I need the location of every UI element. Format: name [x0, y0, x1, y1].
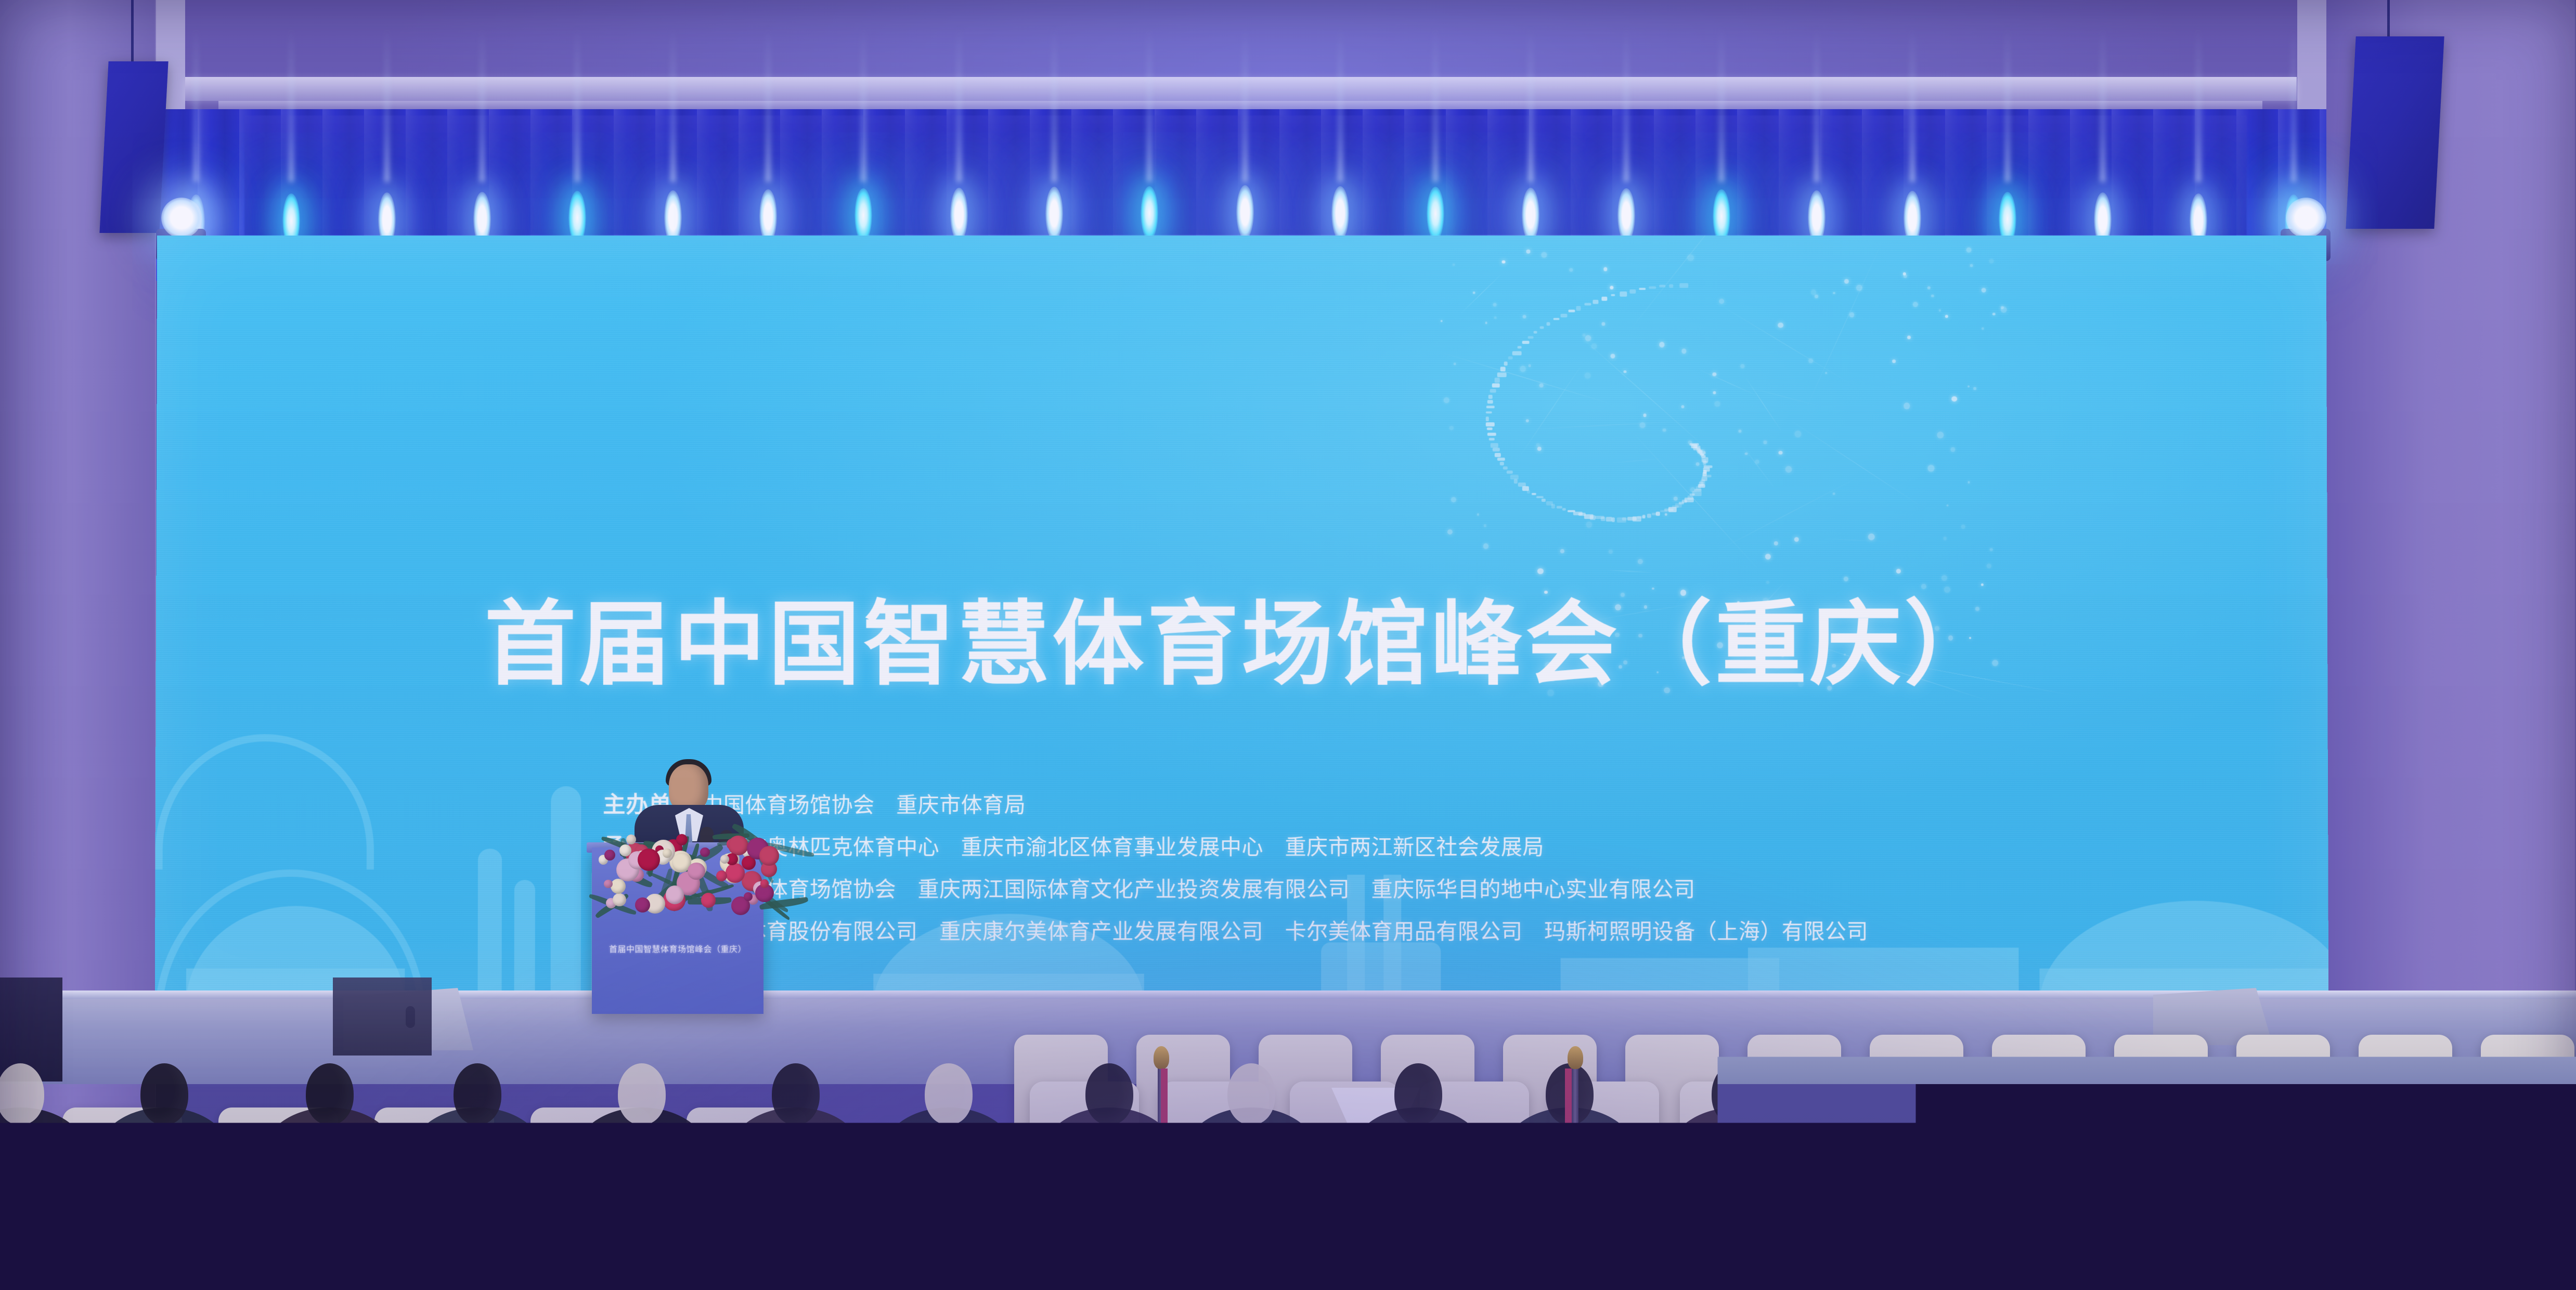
- stage-spotlight: [1045, 187, 1063, 241]
- audience-person-head: [2017, 1063, 2065, 1125]
- tech-particle-dot: [1586, 522, 1592, 527]
- tech-ribbon-pixel: [1576, 306, 1581, 311]
- audience-person-head: [1909, 1196, 1987, 1290]
- tech-particle-dot: [1825, 372, 1828, 374]
- tech-particle-dot: [1892, 359, 1896, 363]
- audience-person-head: [944, 1123, 1005, 1200]
- tech-particle-dot: [1992, 312, 1996, 316]
- tech-ribbon-pixel: [1554, 318, 1560, 320]
- tech-particle-dot: [1765, 554, 1771, 559]
- light-beam: [2291, 26, 2296, 182]
- tech-particle-dot: [1665, 513, 1667, 516]
- tech-particle-dot: [1623, 370, 1626, 373]
- tech-ribbon-pixel: [1510, 475, 1519, 479]
- tech-ribbon-pixel: [1629, 290, 1636, 294]
- tech-particle-dot: [1485, 322, 1487, 324]
- tech-particle-dot: [1528, 364, 1531, 367]
- tech-ribbon-pixel: [1504, 361, 1507, 366]
- tech-ribbon-pixel: [1679, 283, 1688, 288]
- light-beam: [2196, 26, 2201, 182]
- tech-particle-dot: [1449, 426, 1454, 430]
- light-beam: [766, 26, 771, 182]
- light-beam: [1624, 26, 1629, 182]
- tech-ribbon-pixel: [1492, 383, 1500, 387]
- audience-person-head: [0, 1063, 44, 1125]
- tech-particle-dot: [1526, 250, 1530, 254]
- tech-ribbon-pixel: [1486, 416, 1489, 421]
- audience-person-head: [746, 1123, 808, 1200]
- stage-spotlight: [1331, 186, 1349, 240]
- tech-ribbon-pixel: [1639, 288, 1646, 290]
- tech-ribbon-pixel: [1491, 443, 1498, 448]
- tech-particle-dot: [1493, 303, 1497, 307]
- light-beam: [1528, 26, 1533, 182]
- tech-ribbon-pixel: [1669, 284, 1673, 288]
- tech-particle-dot: [1537, 568, 1544, 575]
- tech-ribbon-pixel: [1487, 433, 1496, 436]
- led-screen: 首届中国智慧体育场馆峰会（重庆） 主办单位中国体育场馆协会 重庆市体育局承办单位…: [155, 236, 2328, 1005]
- tech-ribbon-pixel: [1503, 466, 1508, 470]
- tech-particle-dot: [1833, 292, 1835, 294]
- tech-ribbon-pixel: [1495, 453, 1501, 458]
- tech-ribbon-pixel: [1561, 314, 1568, 317]
- tech-connector-line: [1803, 237, 1885, 414]
- tech-connector-line: [1785, 416, 1928, 511]
- light-beam: [1433, 26, 1438, 182]
- tech-connector-line: [1572, 329, 1716, 457]
- audience-person-head: [2296, 1123, 2357, 1200]
- tech-particle-dot: [1539, 383, 1544, 387]
- light-beam: [480, 26, 485, 182]
- audience-person-head: [2482, 1063, 2530, 1125]
- organizer-value: 舒华体育股份有限公司 重庆康尔美体育产业发展有限公司 卡尔美体育用品有限公司 玛…: [702, 919, 1868, 944]
- light-beam: [1814, 26, 1819, 182]
- tech-particle-dot: [1447, 529, 1453, 535]
- hanging-speaker-right: [2346, 36, 2444, 229]
- organizer-line-1: 承办单位重庆市奥林匹克体育中心 重庆市渝北区体育事业发展中心 重庆市两江新区社会…: [603, 836, 2268, 858]
- light-beam: [861, 26, 866, 182]
- tech-particle-dot: [1794, 431, 1801, 437]
- light-beam: [193, 26, 199, 182]
- stanchion-post-right: [1572, 1066, 1578, 1284]
- tech-ribbon-pixel: [1486, 411, 1492, 414]
- light-beam: [1338, 26, 1343, 182]
- audience-person-head: [160, 1123, 222, 1200]
- audience-person-head: [454, 1063, 501, 1125]
- tech-particle-dot: [1937, 432, 1944, 438]
- tech-ribbon-pixel: [1489, 438, 1495, 440]
- tech-particle-dot: [1961, 525, 1965, 528]
- audience-person-head: [306, 1063, 354, 1125]
- tech-ribbon-pixel: [1522, 486, 1529, 491]
- tech-ribbon-pixel: [1487, 400, 1493, 404]
- tech-particle-dot: [1980, 583, 1983, 586]
- flower-bloom: [744, 892, 753, 901]
- tech-particle-dot: [1896, 569, 1901, 574]
- summit-title: 首届中国智慧体育场馆峰会（重庆）: [156, 599, 2328, 690]
- tech-ribbon-pixel: [1532, 493, 1536, 495]
- light-beam: [1242, 26, 1248, 182]
- tech-particle-dot: [1719, 299, 1724, 304]
- light-beam: [956, 26, 962, 182]
- flower-bloom: [604, 850, 615, 861]
- flower-bloom: [759, 846, 779, 866]
- flower-bloom: [701, 893, 716, 908]
- tech-particle-dot: [1868, 533, 1875, 540]
- tech-particle-dot: [1695, 462, 1699, 466]
- tech-particle-dot: [1585, 335, 1591, 342]
- audience-person-head: [140, 1063, 188, 1125]
- stage-spotlight: [1522, 188, 1539, 242]
- tech-ribbon-pixel: [1568, 510, 1575, 513]
- tech-connector-line: [1438, 351, 1616, 406]
- flower-arrangement: [579, 820, 777, 914]
- flower-bloom: [688, 863, 705, 880]
- tech-ribbon-pixel: [1536, 496, 1544, 499]
- tech-ribbon-pixel: [1512, 351, 1521, 355]
- conference-photo: 首届中国智慧体育场馆峰会（重庆） 主办单位中国体育场馆协会 重庆市体育局承办单位…: [0, 0, 2576, 1290]
- tech-ribbon-pixel: [1522, 341, 1530, 344]
- tech-particle-dot: [1674, 497, 1678, 501]
- tech-ribbon-pixel: [1497, 458, 1505, 461]
- tech-ribbon-pixel: [1547, 322, 1550, 325]
- tech-connector-line: [1697, 368, 1762, 397]
- tech-particle-dot: [1583, 334, 1585, 336]
- tech-particle-dot: [1833, 493, 1835, 496]
- tech-particle-dot: [1477, 513, 1479, 516]
- tech-connector-line: [1736, 384, 1826, 408]
- silhouette-arch-stadium: [156, 734, 374, 869]
- audience-person-head: [2180, 1063, 2228, 1125]
- audience-person-head: [925, 1063, 973, 1125]
- audience-person-head: [2483, 1123, 2544, 1200]
- tech-particle-dot: [1453, 264, 1455, 266]
- flower-bloom: [700, 848, 709, 857]
- light-beam: [575, 26, 580, 182]
- speaker-wire-left: [131, 0, 134, 62]
- audience-person-head: [346, 1123, 408, 1200]
- tech-ribbon-pixel: [1617, 517, 1626, 523]
- audience-person-head: [1085, 1063, 1133, 1125]
- audience-person-head: [1712, 1063, 1759, 1125]
- light-beam: [1052, 26, 1057, 182]
- tech-ribbon-pixel: [1534, 331, 1537, 333]
- tech-particle-dot: [1542, 252, 1547, 257]
- tech-particle-dot: [1715, 401, 1720, 407]
- tech-ribbon-pixel: [1493, 448, 1500, 451]
- tech-ribbon-pixel: [1651, 513, 1657, 515]
- flower-bloom: [720, 855, 729, 864]
- light-beam: [1147, 26, 1152, 182]
- stage-spotlight: [950, 188, 968, 242]
- stage-spotlight: [1427, 187, 1444, 241]
- tech-particle-dot: [1785, 466, 1792, 473]
- flower-bloom: [638, 849, 660, 871]
- tech-particle-dot: [1494, 316, 1496, 319]
- tech-ribbon-pixel: [1562, 508, 1566, 511]
- tech-ribbon-pixel: [1557, 506, 1562, 509]
- tech-particle-dot: [1659, 342, 1665, 348]
- tech-particle-dot: [1603, 267, 1608, 271]
- tech-particle-dot: [1473, 291, 1475, 294]
- organizer-value: 重庆市体育场馆协会 重庆两江国际体育文化产业投资发展有限公司 重庆际华目的地中心…: [702, 877, 1695, 902]
- audience-person-head: [555, 1123, 617, 1200]
- tech-particle-dot: [1740, 364, 1744, 369]
- tech-particle-dot: [1938, 309, 1940, 311]
- audience-person-head: [2412, 1196, 2490, 1290]
- tech-particle-dot: [1713, 391, 1716, 394]
- tech-particle-dot: [1951, 396, 1957, 402]
- tech-particle-dot: [1662, 428, 1666, 432]
- flower-bloom: [611, 879, 626, 894]
- tech-ribbon-pixel: [1647, 514, 1651, 518]
- tech-particle-dot: [1921, 584, 1926, 589]
- tech-ribbon-pixel: [1507, 471, 1513, 474]
- flower-bloom: [663, 849, 671, 857]
- audience-person-head: [441, 1196, 519, 1290]
- tech-particle-dot: [1609, 550, 1613, 554]
- stage-spotlight: [1617, 188, 1635, 242]
- tech-ribbon-pixel: [1606, 517, 1612, 521]
- tech-particle-dot: [1483, 543, 1488, 549]
- organizer-line-2: 协办单位重庆市体育场馆协会 重庆两江国际体育文化产业投资发展有限公司 重庆际华目…: [603, 878, 2269, 901]
- tech-particle-dot: [1570, 268, 1573, 272]
- tech-particle-dot: [1927, 286, 1931, 290]
- tech-particle-dot: [1990, 548, 1992, 551]
- tech-ribbon-pixel: [1500, 462, 1504, 466]
- tech-particle-dot: [1584, 372, 1590, 379]
- tech-connector-line: [1711, 474, 1864, 554]
- side-lamp-left: [161, 198, 202, 238]
- tech-ribbon-pixel: [1660, 510, 1667, 512]
- tech-particle-dot: [1778, 322, 1783, 328]
- light-beam: [1910, 26, 1915, 182]
- side-lamp-right: [2286, 198, 2326, 238]
- light-beam: [384, 26, 390, 182]
- tech-particle-dot: [1815, 295, 1818, 298]
- tech-ribbon-pixel: [1486, 422, 1495, 426]
- tech-connector-line: [1738, 439, 1777, 491]
- tech-ribbon-pixel: [1627, 517, 1637, 520]
- tech-ribbon-pixel: [1495, 378, 1500, 383]
- tech-ribbon-pixel: [1528, 336, 1534, 338]
- tech-ribbon-pixel: [1595, 516, 1604, 518]
- speaker-wire-right: [2387, 0, 2390, 37]
- tech-ribbon-pixel: [1584, 303, 1591, 305]
- tech-particle-dot: [1904, 403, 1910, 409]
- audience-person-head: [1871, 1063, 1919, 1125]
- audience-person-head: [1665, 1196, 1743, 1290]
- tech-particle-dot: [1681, 405, 1684, 408]
- tech-ribbon-pixel: [1486, 427, 1493, 430]
- tech-particle-dot: [1945, 315, 1948, 318]
- tech-ribbon-pixel: [1649, 286, 1656, 289]
- tech-ribbon-pixel: [1514, 479, 1518, 484]
- tech-connector-line: [1717, 303, 1854, 385]
- stage-spotlight: [1236, 185, 1254, 239]
- flower-bloom: [613, 893, 626, 906]
- tech-particle-dot: [1794, 537, 1798, 542]
- tech-particle-dot: [1766, 581, 1770, 584]
- tech-connector-line: [1743, 374, 1784, 434]
- stanchion-ball-left: [1154, 1046, 1169, 1069]
- tech-ribbon-pixel: [1540, 327, 1544, 329]
- audience-person-head: [2158, 1196, 2236, 1290]
- tech-particle-dot: [1913, 302, 1918, 307]
- tech-particle-dot: [1982, 288, 1986, 293]
- flower-bloom: [728, 836, 748, 855]
- light-beam: [289, 26, 294, 182]
- tech-ribbon-pixel: [1517, 346, 1521, 349]
- tech-particle-dot: [1951, 447, 1956, 452]
- tech-ribbon-pixel: [1568, 310, 1575, 312]
- audience-person-head: [1711, 1123, 1772, 1200]
- organizer-block: 主办单位中国体育场馆协会 重庆市体育局承办单位重庆市奥林匹克体育中心 重庆市渝北…: [603, 794, 2269, 962]
- tech-particle-dot: [1502, 260, 1505, 264]
- flower-bloom: [726, 863, 745, 883]
- tech-particle-dot: [1907, 335, 1911, 339]
- tech-particle-dot: [1610, 286, 1613, 290]
- tech-particle-dot: [1941, 575, 1947, 581]
- tech-particle-dot: [1927, 465, 1934, 472]
- light-beam: [2100, 26, 2105, 182]
- audience-person-head: [942, 1196, 1020, 1290]
- audience-person-head: [772, 1063, 820, 1125]
- tech-particle-dot: [1652, 588, 1654, 590]
- stage-spotlight: [1141, 186, 1158, 240]
- tech-particle-dot: [1522, 315, 1526, 318]
- flower-bloom: [604, 880, 612, 888]
- flower-bloom: [619, 844, 631, 856]
- tech-particle-dot: [1982, 328, 1984, 330]
- tech-particle-dot: [1987, 564, 1991, 568]
- tech-particle-dot: [1764, 440, 1767, 444]
- tech-connector-line: [1517, 359, 1586, 461]
- tech-particle-dot: [1520, 366, 1525, 371]
- velvet-rope: [1161, 1069, 1572, 1224]
- tech-particle-dot: [1451, 497, 1457, 503]
- tech-particle-dot: [1904, 274, 1907, 278]
- audience-person-head: [212, 1196, 290, 1290]
- tech-particle-dot: [1973, 387, 1976, 390]
- audience-person-head: [683, 1196, 761, 1290]
- tech-particle-dot: [1681, 349, 1686, 354]
- tech-particle-dot: [1560, 549, 1564, 553]
- tech-particle-dot: [1844, 577, 1848, 581]
- proscenium-bar-upper: [185, 77, 2297, 101]
- tech-particle-dot: [1774, 541, 1778, 545]
- flower-bloom: [666, 885, 684, 904]
- tech-ribbon-pixel: [1497, 372, 1506, 377]
- tech-particle-dot: [1967, 385, 1970, 387]
- tech-ribbon-pixel: [1490, 389, 1496, 393]
- tech-ribbon-pixel: [1486, 406, 1495, 408]
- tech-particle-dot: [1483, 525, 1486, 528]
- tech-particle-dot: [1779, 451, 1783, 455]
- organizer-line-0: 主办单位中国体育场馆协会 重庆市体育局: [603, 794, 2268, 816]
- organizer-value: 重庆市奥林匹克体育中心 重庆市渝北区体育事业发展中心 重庆市两江新区社会发展局: [702, 835, 1544, 859]
- tech-particle-dot: [1454, 362, 1456, 365]
- tech-particle-dot: [1931, 294, 1934, 297]
- light-beam: [670, 26, 676, 182]
- tech-ribbon-pixel: [1541, 499, 1546, 502]
- tech-particle-dot: [1844, 279, 1849, 283]
- organizer-line-3: 支持单位舒华体育股份有限公司 重庆康尔美体育产业发展有限公司 卡尔美体育用品有限…: [603, 920, 2269, 943]
- light-beam: [2005, 26, 2010, 182]
- flower-bloom: [760, 879, 769, 888]
- tech-connector-line: [1606, 570, 1653, 573]
- stanchion-ball-right: [1568, 1046, 1583, 1069]
- tech-ribbon-pixel: [1602, 297, 1608, 301]
- audience-person-head: [2324, 1063, 2372, 1125]
- tech-particle-dot: [1989, 259, 1994, 264]
- tech-connector-line: [1608, 458, 1663, 463]
- tech-ribbon-pixel: [1488, 395, 1493, 399]
- tech-particle-dot: [1643, 414, 1646, 417]
- tech-ribbon-pixel: [1620, 292, 1627, 297]
- tech-particle-dot: [1967, 481, 1970, 484]
- tech-ribbon-pixel: [1611, 294, 1615, 296]
- tech-particle-dot: [1526, 419, 1529, 422]
- tech-connector-line: [1819, 538, 1888, 542]
- stage-spotlight: [855, 188, 872, 242]
- light-beam: [1719, 26, 1724, 182]
- tech-ribbon-pixel: [1518, 483, 1525, 487]
- tech-particle-dot: [1611, 354, 1615, 358]
- tech-particle-dot: [1537, 447, 1542, 451]
- audience-person-head: [2094, 1123, 2156, 1200]
- tech-particle-dot: [1943, 537, 1947, 541]
- tech-particle-dot: [1638, 559, 1643, 565]
- tech-particle-dot: [1444, 397, 1449, 403]
- tech-connector-line: [1459, 272, 1503, 315]
- tech-particle-dot: [1946, 504, 1948, 506]
- audience-person-head: [1909, 1123, 1971, 1200]
- tech-particle-dot: [1849, 312, 1855, 317]
- tech-particle-dot: [2001, 306, 2007, 312]
- tech-particle-dot: [1966, 247, 1971, 253]
- tech-particle-dot: [1970, 264, 1973, 267]
- audience-person-head: [618, 1063, 666, 1125]
- tech-particle-dot: [1602, 322, 1606, 326]
- tech-particle-dot: [1738, 429, 1741, 433]
- tech-ribbon-pixel: [1508, 356, 1513, 359]
- tech-particle-dot: [1441, 320, 1443, 322]
- tech-ribbon-pixel: [1546, 501, 1553, 505]
- tech-ribbon-pixel: [1593, 299, 1599, 304]
